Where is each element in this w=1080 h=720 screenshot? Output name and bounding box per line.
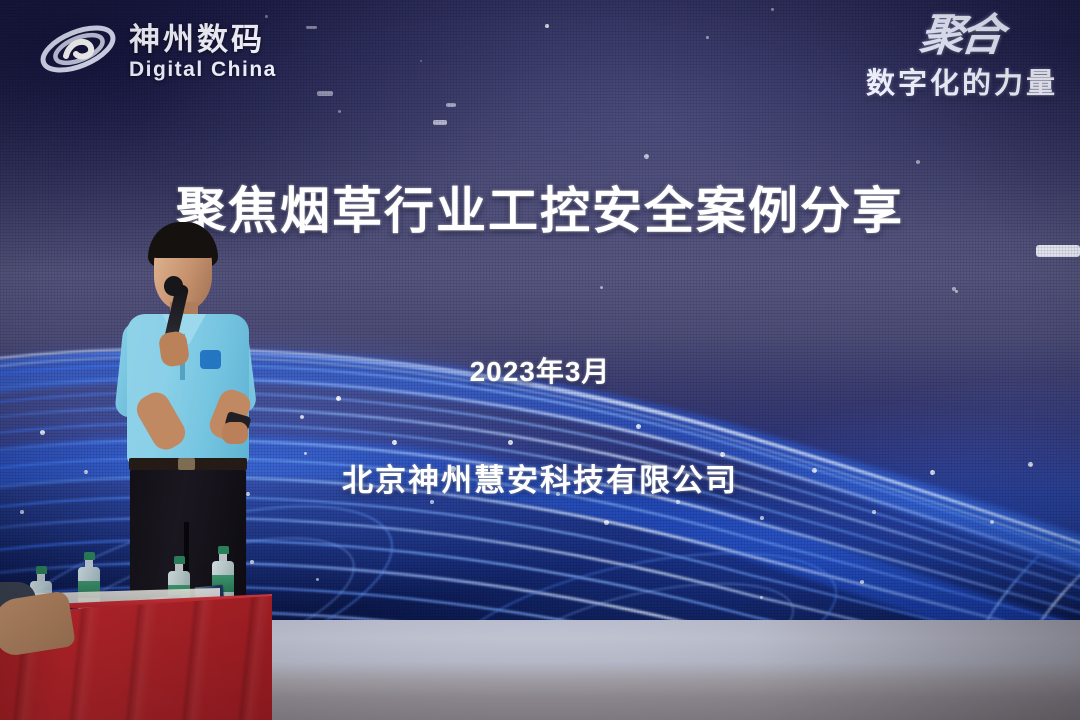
belt-buckle [178,458,195,470]
presenter-right-hand [222,422,248,444]
bottle-neck [37,574,45,581]
bottle-cap [174,556,185,564]
event-calligraphy: 聚合 [864,14,1003,58]
event-logo: 聚合 数字化的力量 [866,14,1058,102]
bottle-neck [175,564,183,571]
bottle-neck [85,560,93,567]
digital-china-swirl-icon [36,18,120,85]
brand-name-cn: 神州数码 [129,24,277,55]
presenter-fringe [150,232,216,258]
digital-china-logo: 神州数码 Digital China [36,18,277,85]
brand-name-en: Digital China [129,59,277,80]
conference-stage-photo: 神州数码 Digital China 聚合 数字化的力量 聚焦烟草行业工控安全案… [0,0,1080,720]
presenter-left-hand [158,330,190,368]
presenter [96,222,286,622]
bottle-cap [218,546,229,554]
shirt-chest-logo-icon [200,350,221,369]
bottle-cap [84,552,95,560]
bottle-cap [36,566,47,574]
event-subtitle: 数字化的力量 [866,60,1058,102]
bottle-neck [219,554,227,561]
